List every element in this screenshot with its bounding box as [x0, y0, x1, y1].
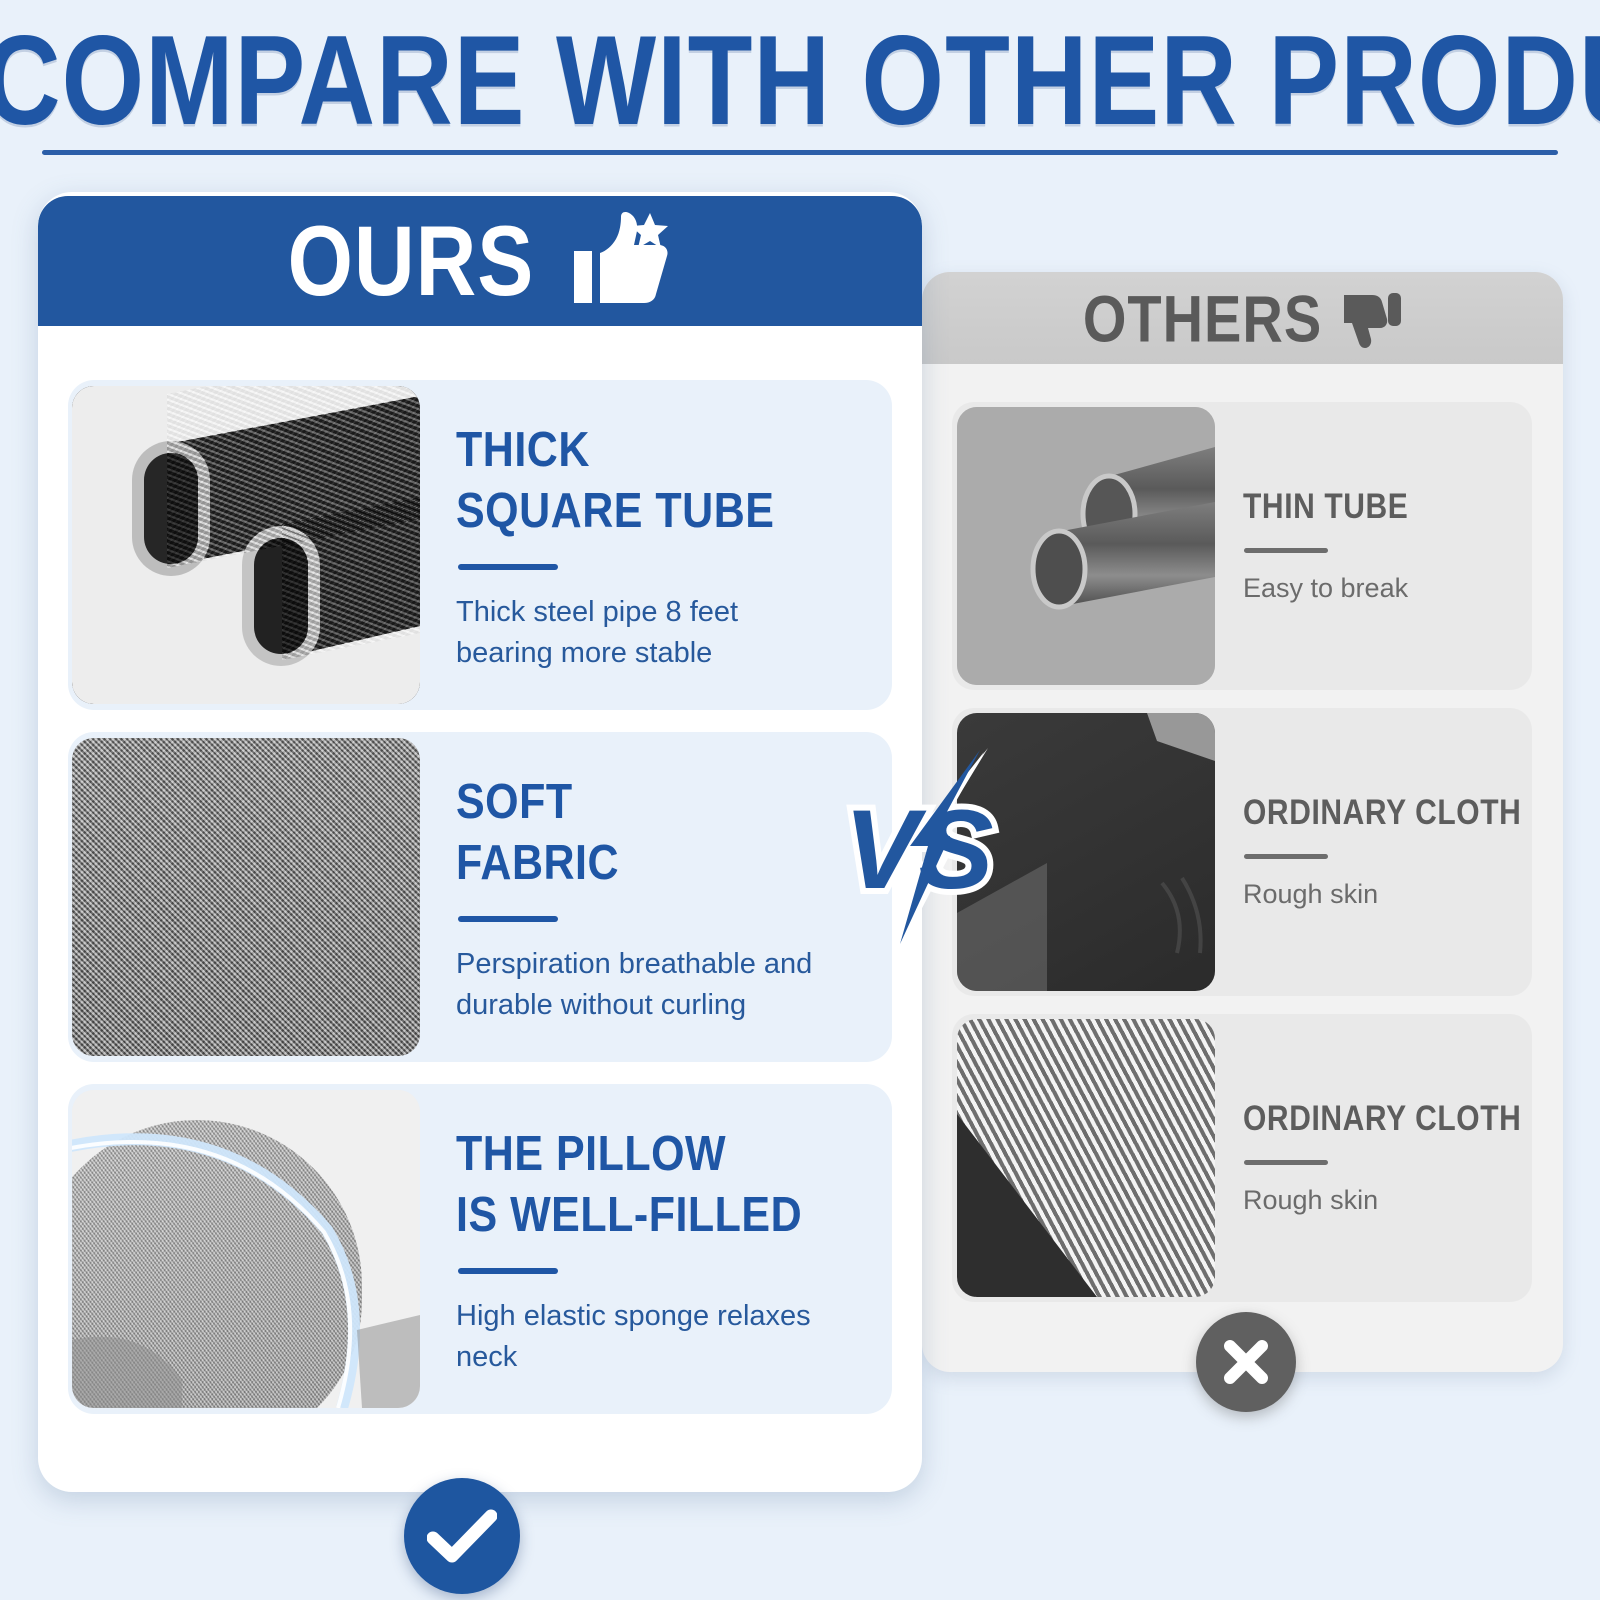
title-divider [42, 150, 1558, 155]
others-feature-row: ORDINARY CLOTH Rough skin [952, 708, 1532, 996]
others-feature-divider [1244, 854, 1328, 859]
thin-round-tube-photo [957, 407, 1215, 685]
thick-square-steel-tube-photo [72, 386, 420, 704]
ours-feature-heading-line1: THICK [456, 416, 816, 486]
ours-feature-heading-line1: THE PILLOW [456, 1120, 816, 1190]
ours-feature-heading-line2: FABRIC [456, 829, 876, 899]
ours-feature-divider [458, 1268, 558, 1274]
striped-ordinary-cloth-photo [957, 1019, 1215, 1297]
others-panel: OTHERS [922, 272, 1563, 1372]
ours-feature-divider [458, 916, 558, 922]
page-title-wrap: COMPARE WITH OTHER PRODUCTS [0, 18, 1600, 122]
soft-woven-fabric-photo [72, 738, 420, 1056]
others-feature-heading: ORDINARY CLOTH [1243, 794, 1521, 833]
ours-feature-text: THICK SQUARE TUBE Thick steel pipe 8 fee… [420, 416, 826, 674]
ours-feature-heading-line2: IS WELL-FILLED [456, 1181, 816, 1251]
others-feature-divider [1244, 1160, 1328, 1165]
others-feature-text: ORDINARY CLOTH Rough skin [1215, 1100, 1521, 1216]
infographic-page: COMPARE WITH OTHER PRODUCTS OTHERS [0, 0, 1600, 1600]
others-feature-divider [1244, 548, 1328, 553]
check-circle-icon [404, 1478, 520, 1594]
ours-feature-description: Perspiration breathable and durable with… [456, 944, 876, 1026]
others-feature-row: ORDINARY CLOTH Rough skin [952, 1014, 1532, 1302]
ours-feature-divider [458, 564, 558, 570]
ours-feature-description: High elastic sponge relaxes neck [456, 1296, 816, 1378]
ours-header: OURS [38, 196, 922, 326]
ours-feature-description: Thick steel pipe 8 feet bearing more sta… [456, 592, 816, 674]
x-circle-icon [1196, 1312, 1296, 1412]
others-feature-description: Rough skin [1243, 1185, 1521, 1216]
filled-pillow-photo [72, 1090, 420, 1408]
ours-feature-text: THE PILLOW IS WELL-FILLED High elastic s… [420, 1120, 826, 1378]
others-header-label: OTHERS [1083, 280, 1322, 357]
others-feature-row: THIN TUBE Easy to break [952, 402, 1532, 690]
thumbs-down-icon [1340, 293, 1402, 356]
thumbs-up-star-icon [564, 211, 672, 312]
others-feature-heading: THIN TUBE [1243, 488, 1408, 527]
ours-feature-row: THE PILLOW IS WELL-FILLED High elastic s… [68, 1084, 892, 1414]
others-feature-description: Easy to break [1243, 573, 1408, 604]
ours-feature-heading-line1: SOFT [456, 768, 876, 838]
ours-feature-heading-line2: SQUARE TUBE [456, 477, 816, 547]
ours-panel: OURS [38, 192, 922, 1492]
others-feature-heading: ORDINARY CLOTH [1243, 1100, 1521, 1139]
ours-feature-text: SOFT FABRIC Perspiration breathable and … [420, 768, 886, 1026]
others-feature-text: THIN TUBE Easy to break [1215, 488, 1408, 604]
others-feature-description: Rough skin [1243, 879, 1521, 910]
ours-header-label: OURS [288, 204, 535, 318]
page-title: COMPARE WITH OTHER PRODUCTS [0, 18, 1600, 145]
others-header: OTHERS [922, 272, 1563, 364]
vs-badge: VS VS [838, 748, 1018, 958]
ours-feature-row: THICK SQUARE TUBE Thick steel pipe 8 fee… [68, 380, 892, 710]
others-feature-text: ORDINARY CLOTH Rough skin [1215, 794, 1521, 910]
ours-feature-row: SOFT FABRIC Perspiration breathable and … [68, 732, 892, 1062]
